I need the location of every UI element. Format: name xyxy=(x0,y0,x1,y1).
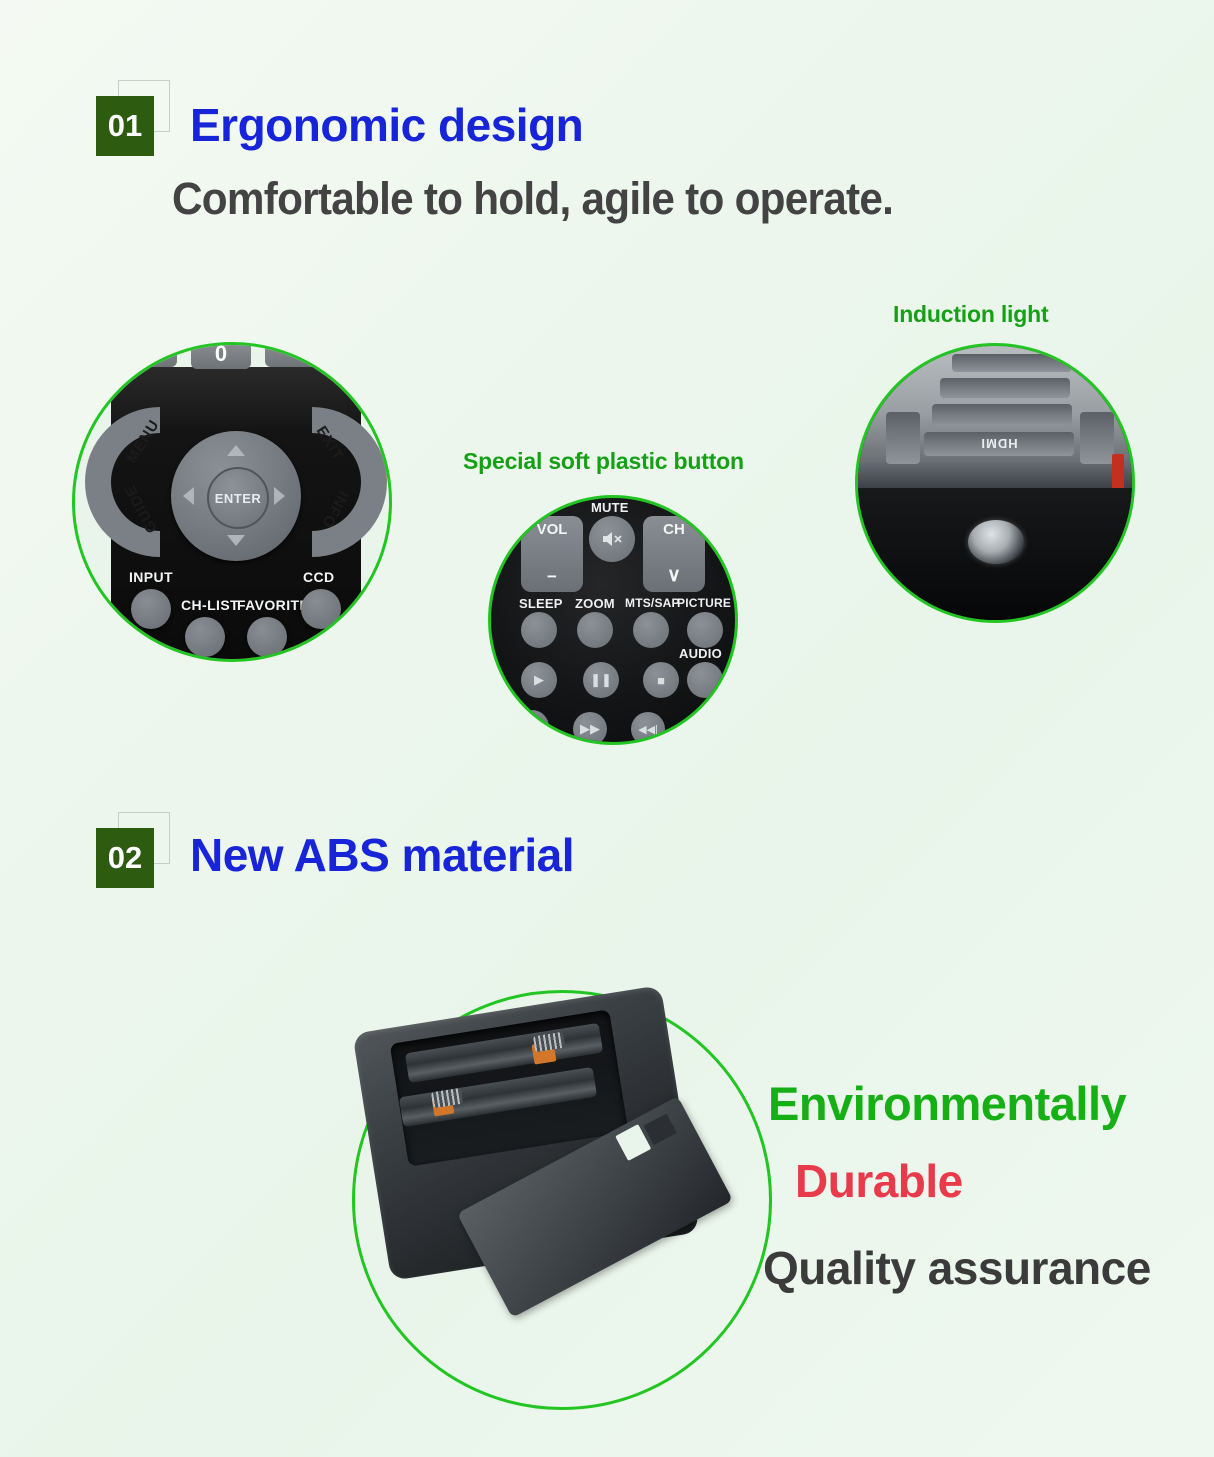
label-picture: PICTURE xyxy=(677,596,731,610)
badge-number-02: 02 xyxy=(96,828,154,888)
pause-button[interactable]: ❚❚ xyxy=(583,662,619,698)
channel-rocker[interactable]: CH ∨ xyxy=(643,516,705,592)
feature-quality-assurance: Quality assurance xyxy=(763,1245,1151,1291)
key-side-right xyxy=(1080,412,1114,464)
rewind-button[interactable]: ◀◀ xyxy=(515,710,549,744)
feature-durable: Durable xyxy=(795,1158,963,1204)
label-favorite: FAVORITE xyxy=(237,597,309,613)
label-ch: CH xyxy=(663,521,685,538)
label-mute: MUTE xyxy=(591,500,629,515)
number-key-0[interactable]: 0 xyxy=(191,342,251,369)
label-zoom: ZOOM xyxy=(575,596,615,611)
feature-environmentally: Environmentally xyxy=(768,1080,1126,1127)
next-track-icon: |▶▶ xyxy=(692,721,712,734)
section-01-subtitle: Comfortable to hold, agile to operate. xyxy=(172,176,893,221)
stop-icon: ■ xyxy=(657,673,665,688)
section-02-heading: 02 New ABS material xyxy=(96,824,574,892)
dpad-up-arrow-icon[interactable] xyxy=(227,445,245,456)
enter-button[interactable]: ENTER xyxy=(207,467,269,529)
input-button[interactable] xyxy=(131,589,171,629)
picture-button[interactable] xyxy=(687,612,723,648)
previous-track-button[interactable]: ◀◀| xyxy=(631,712,665,745)
label-mts-sap: MTS/SAP xyxy=(625,596,680,610)
next-track-button[interactable]: |▶▶ xyxy=(685,710,719,744)
badge-number-01: 01 xyxy=(96,96,154,156)
play-icon: ▶ xyxy=(534,672,544,688)
section-01-title: Ergonomic design xyxy=(190,102,583,148)
volume-rocker[interactable]: VOL − xyxy=(521,516,583,592)
rewind-icon: ◀◀ xyxy=(522,719,542,735)
section-02-badge: 02 xyxy=(96,824,168,892)
dpad-left-arrow-icon[interactable] xyxy=(183,487,194,505)
speaker-mute-icon xyxy=(601,530,623,548)
key-side-left xyxy=(886,412,920,464)
section-02-title: New ABS material xyxy=(190,832,574,878)
ccd-button[interactable] xyxy=(301,589,341,629)
dpad-down-arrow-icon[interactable] xyxy=(227,535,245,546)
infographic-page: 01 Ergonomic design Comfortable to hold,… xyxy=(0,0,1214,1457)
previous-track-icon: ◀◀| xyxy=(638,723,658,736)
photo-soft-plastic-buttons: MUTE VOL − CH ∨ SLEEP ZOOM MTS/SAP PICTU… xyxy=(488,495,738,745)
section-01-heading: 01 Ergonomic design xyxy=(96,92,583,160)
mute-button[interactable] xyxy=(589,516,635,562)
photo-navigation-keypad: 0 MENU GUIDE EXIT INFO ENTER INPUT CH-LI… xyxy=(72,342,392,662)
label-input: INPUT xyxy=(129,569,173,585)
key-row-3 xyxy=(932,404,1072,426)
induction-sensor-led-icon xyxy=(968,520,1024,564)
dpad-right-arrow-icon[interactable] xyxy=(274,487,285,505)
play-button[interactable]: ▶ xyxy=(521,662,557,698)
number-key-left xyxy=(115,342,177,367)
fast-forward-icon: ▶▶ xyxy=(580,721,600,737)
mts-sap-button[interactable] xyxy=(633,612,669,648)
key-row-2 xyxy=(940,378,1070,398)
audio-button[interactable] xyxy=(687,662,723,698)
cover-tab xyxy=(644,1114,677,1146)
fast-forward-button[interactable]: ▶▶ xyxy=(573,712,607,745)
favorite-button[interactable] xyxy=(247,617,287,657)
ch-list-button[interactable] xyxy=(185,617,225,657)
zoom-button[interactable] xyxy=(577,612,613,648)
callout-soft-plastic-button: Special soft plastic button xyxy=(463,448,744,475)
key-hdmi: HDMI xyxy=(924,432,1074,456)
label-vol: VOL xyxy=(537,521,568,538)
vol-minus-icon: − xyxy=(547,567,557,587)
stop-button[interactable]: ■ xyxy=(643,662,679,698)
sleep-button[interactable] xyxy=(521,612,557,648)
section-01-badge: 01 xyxy=(96,92,168,160)
label-ch-list: CH-LIST xyxy=(181,597,239,613)
photo-induction-light: HDMI xyxy=(855,343,1135,623)
number-key-right xyxy=(265,342,327,367)
ch-down-icon: ∨ xyxy=(667,564,681,587)
label-audio: AUDIO xyxy=(679,646,722,661)
label-sleep: SLEEP xyxy=(519,596,563,611)
label-ccd: CCD xyxy=(303,569,335,585)
callout-induction-light: Induction light xyxy=(893,301,1048,328)
pause-icon: ❚❚ xyxy=(590,672,612,688)
key-power-red xyxy=(1112,454,1124,492)
key-row-1 xyxy=(952,354,1072,372)
